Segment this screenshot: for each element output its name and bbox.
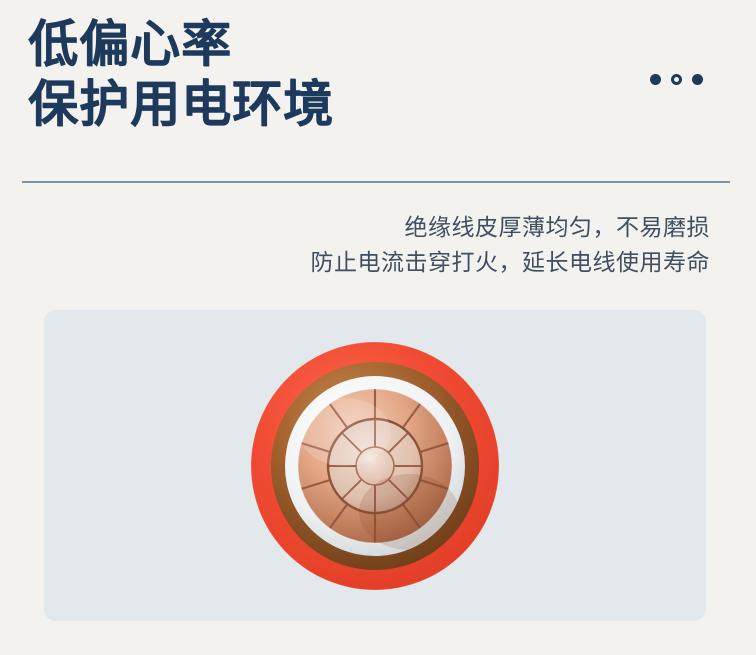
subtitle-line-2: 防止电流击穿打火，延长电线使用寿命 bbox=[311, 245, 711, 280]
dot-filled-right-icon bbox=[692, 74, 703, 85]
subtitle-line-1: 绝缘线皮厚薄均匀，不易磨损 bbox=[311, 210, 711, 245]
product-feature-page: 低偏心率 保护用电环境 绝缘线皮厚薄均匀，不易磨损 防止电流击穿打火，延长电线使… bbox=[0, 0, 756, 655]
cable-cross-section-graphic bbox=[249, 340, 501, 592]
subtitle-block: 绝缘线皮厚薄均匀，不易磨损 防止电流击穿打火，延长电线使用寿命 bbox=[311, 210, 711, 280]
dot-filled-left-icon bbox=[650, 74, 661, 85]
section-divider bbox=[22, 181, 730, 183]
heading-block: 低偏心率 保护用电环境 bbox=[28, 14, 728, 134]
product-image-card bbox=[44, 310, 706, 621]
page-title-line-2: 保护用电环境 bbox=[28, 74, 728, 134]
decorative-dots bbox=[650, 74, 703, 85]
dot-hollow-center-icon bbox=[671, 74, 682, 85]
page-title-line-1: 低偏心率 bbox=[28, 14, 728, 74]
cable-cross-section-photo bbox=[249, 340, 501, 592]
